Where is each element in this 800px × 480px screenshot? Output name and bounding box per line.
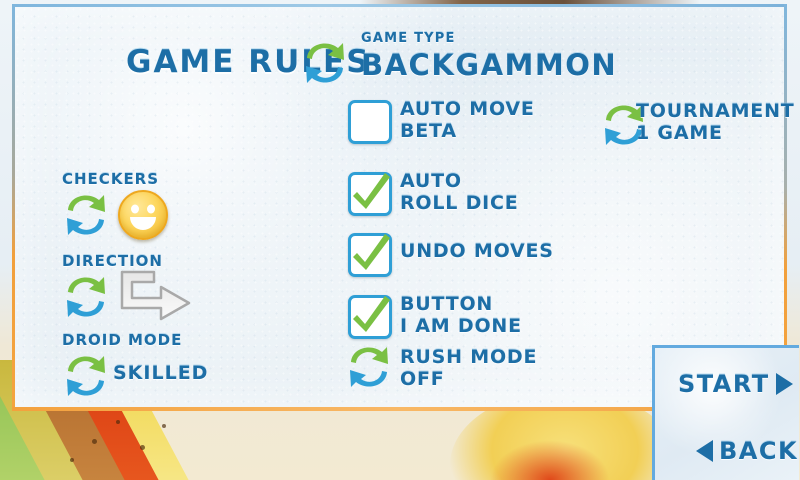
auto-move-label-line2: BETA xyxy=(400,121,457,142)
checkers-value-smiley-icon[interactable] xyxy=(118,190,168,240)
game-type-label: GAME TYPE xyxy=(361,31,456,46)
auto-roll-dice-checkbox[interactable] xyxy=(348,172,392,216)
auto-roll-dice-label-line1: AUTO xyxy=(400,171,462,192)
cycle-arrows-icon xyxy=(60,270,112,324)
auto-roll-dice-label-line2: ROLL DICE xyxy=(400,193,519,214)
checkmark-icon xyxy=(347,167,393,213)
rush-mode-label: RUSH MODE xyxy=(400,347,537,368)
button-i-am-done-label-line2: I AM DONE xyxy=(400,316,522,337)
back-button-label: BACK xyxy=(719,437,798,465)
undo-moves-label: UNDO MOVES xyxy=(400,241,554,262)
droid-mode-label: DROID MODE xyxy=(62,331,182,349)
game-type-cycle-button[interactable] xyxy=(299,36,351,90)
checkmark-icon xyxy=(347,228,393,274)
rush-mode-cycle-button[interactable] xyxy=(343,340,395,394)
button-i-am-done-checkbox[interactable] xyxy=(348,295,392,339)
auto-move-checkbox[interactable] xyxy=(348,100,392,144)
auto-move-label-line1: AUTO MOVE xyxy=(400,99,535,120)
back-button[interactable]: BACK xyxy=(696,437,798,465)
checkers-label: CHECKERS xyxy=(62,170,159,188)
undo-moves-checkbox[interactable] xyxy=(348,233,392,277)
start-button-label: START xyxy=(678,370,770,398)
tournament-label: TOURNAMENT xyxy=(636,101,795,122)
checkmark-icon xyxy=(347,290,393,336)
direction-value-arrow-icon[interactable] xyxy=(117,268,195,323)
droid-mode-value[interactable]: SKILLED xyxy=(113,362,208,384)
direction-cycle-button[interactable] xyxy=(60,270,112,324)
frame-top xyxy=(14,4,786,7)
start-button[interactable]: START xyxy=(678,370,793,398)
tournament-value[interactable]: 1 GAME xyxy=(636,123,723,144)
game-type-value[interactable]: BACKGAMMON xyxy=(361,48,617,82)
game-rules-screen: GAME RULES GAME TYPE BACKGAMMON CHECKERS… xyxy=(0,0,800,480)
checkers-cycle-button[interactable] xyxy=(60,188,112,242)
cycle-arrows-icon xyxy=(60,349,112,403)
cycle-arrows-icon xyxy=(343,340,395,394)
chevron-right-icon xyxy=(776,373,793,395)
cycle-arrows-icon xyxy=(299,36,351,90)
cycle-arrows-icon xyxy=(60,188,112,242)
button-i-am-done-label-line1: BUTTON xyxy=(400,294,493,315)
rush-mode-value[interactable]: OFF xyxy=(400,369,445,390)
chevron-left-icon xyxy=(696,440,713,462)
frame-left xyxy=(12,4,15,410)
droid-mode-cycle-button[interactable] xyxy=(60,349,112,403)
